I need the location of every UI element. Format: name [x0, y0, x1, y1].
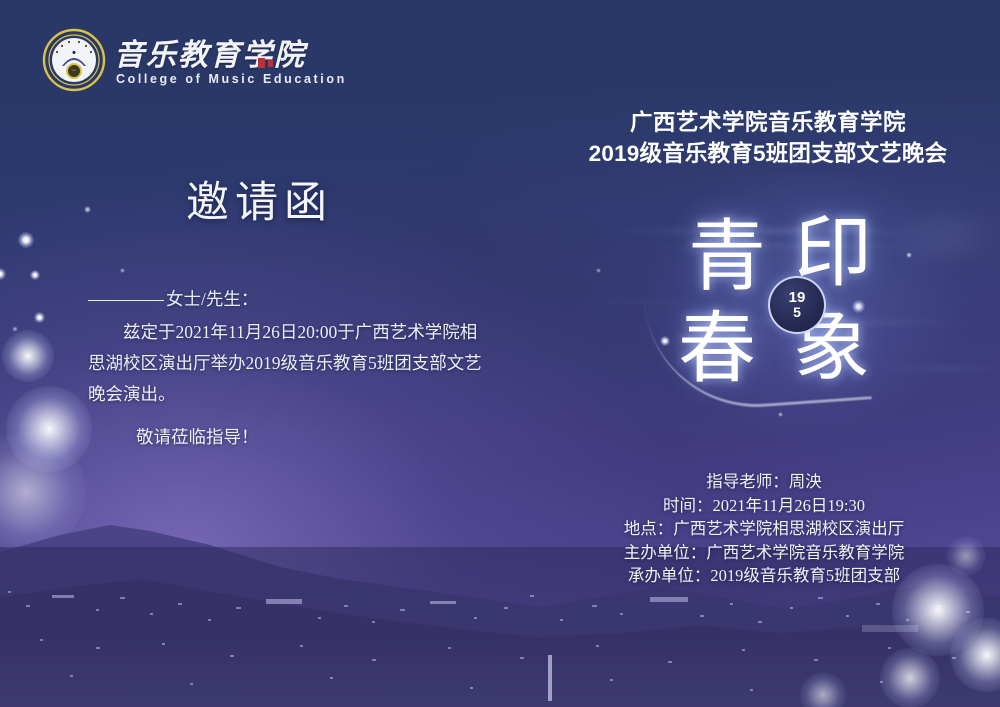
closing-line: 敬请莅临指导！ [136, 424, 259, 449]
artwork-char-qing: 青 [688, 218, 766, 296]
badge-class: 5 [793, 305, 801, 319]
college-logo: 音乐教育学院 College of Music Education [42, 28, 292, 104]
bokeh-glow [2, 330, 54, 382]
invitation-body: 女士/先生： 兹定于2021年11月26日20:00于广西艺术学院相思湖校区演出… [88, 284, 488, 410]
badge-year: 19 [789, 291, 806, 305]
logo-red-seal-mark [258, 58, 265, 68]
detail-line-organizer: 主办单位：广西艺术学院音乐教育学院 [604, 541, 924, 565]
event-details-block: 指导老师：周泱 时间：2021年11月26日19:30 地点：广西艺术学院相思湖… [604, 470, 924, 588]
star-glow [30, 270, 40, 280]
page-title: 邀请函 [186, 168, 333, 230]
detail-line-venue: 地点：广西艺术学院相思湖校区演出厅 [604, 517, 924, 541]
star-glow [120, 268, 125, 273]
detail-line-time: 时间：2021年11月26日19:30 [604, 494, 924, 518]
header-line-2: 2019级音乐教育5班团支部文艺晚会 [558, 139, 978, 170]
bokeh-glow [880, 648, 940, 707]
star-glow [596, 268, 601, 273]
detail-line-instructor: 指导老师：周泱 [604, 470, 924, 494]
detail-line-host: 承办单位：2019级音乐教育5班团支部 [604, 564, 924, 588]
class-badge: 19 5 [768, 276, 826, 334]
logo-chinese-name: 音乐教育学院 [114, 30, 306, 74]
invitation-paragraph: 兹定于2021年11月26日20:00于广西艺术学院相思湖校区演出厅举办2019… [88, 317, 488, 410]
salutation-line: 女士/先生： [88, 284, 488, 315]
recipient-blank-field[interactable] [88, 300, 164, 301]
logo-english-name: College of Music Education [116, 72, 347, 86]
college-seal-emblem [42, 28, 106, 92]
star-glow [18, 232, 34, 248]
logo-red-seal-mark-small [268, 60, 273, 67]
event-artwork-logotype: 青 印 春 象 19 5 [672, 214, 934, 400]
invitation-card: 音乐教育学院 College of Music Education 广西艺术学院… [0, 0, 1000, 707]
salutation-suffix: 女士/先生： [166, 289, 258, 309]
bokeh-glow [946, 536, 986, 576]
star-glow [84, 206, 91, 213]
header-line-1: 广西艺术学院音乐教育学院 [558, 108, 978, 139]
star-glow [34, 312, 45, 323]
artwork-char-chun: 春 [678, 310, 756, 388]
event-header: 广西艺术学院音乐教育学院 2019级音乐教育5班团支部文艺晚会 [558, 108, 978, 169]
